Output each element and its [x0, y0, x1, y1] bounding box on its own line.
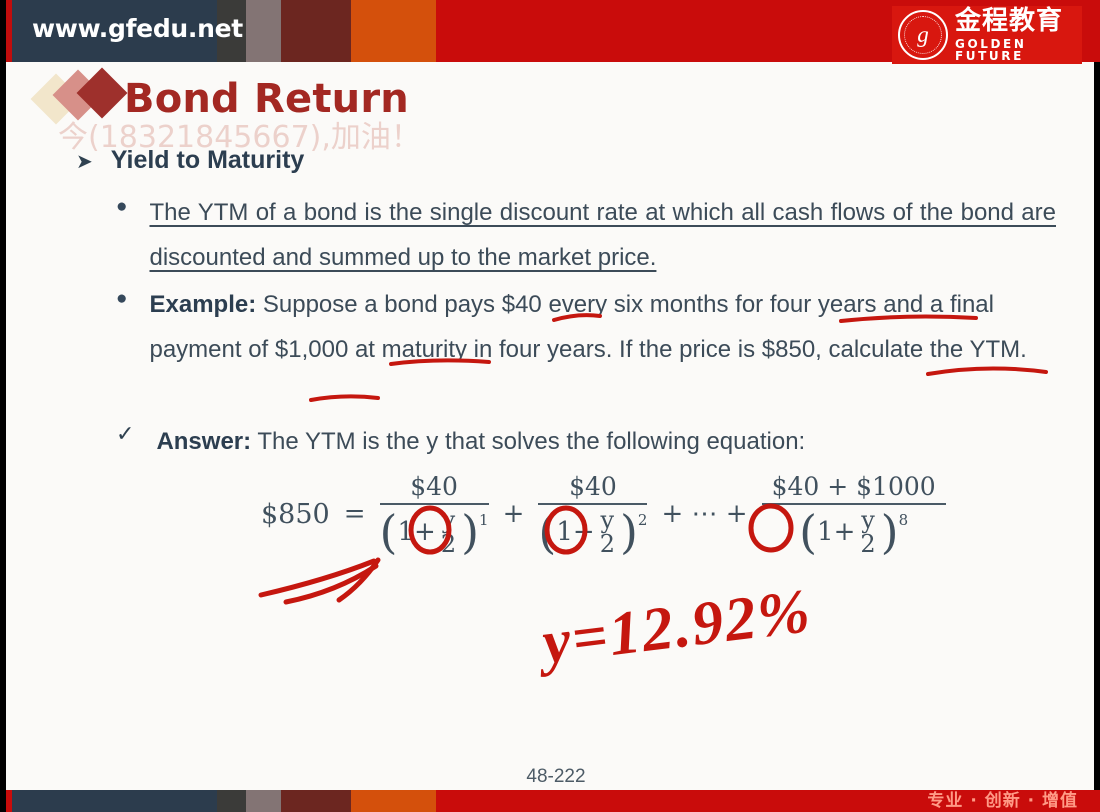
term1-y: y — [439, 508, 459, 532]
term1-one: 1 — [397, 517, 414, 547]
term3-paren-open: ( — [799, 514, 817, 551]
term3-two: 2 — [857, 532, 878, 556]
site-url: www.gfedu.net — [32, 14, 243, 43]
term1-y-over-2: y 2 — [438, 508, 459, 556]
footer-tagline: 专业 · 创新 · 增值 — [927, 786, 1078, 811]
term1-numerator: $40 — [400, 472, 468, 503]
arrow-bullet-icon: ➤ — [76, 149, 93, 174]
round-bullet-icon: ● — [116, 190, 127, 218]
equation-term-2: $40 ( 1 + y 2 ) 2 — [538, 472, 647, 556]
term2-exponent: 2 — [638, 511, 648, 529]
seal-icon: g — [898, 10, 948, 60]
answer-row: ✓ Answer: The YTM is the y that solves t… — [116, 419, 1056, 464]
answer-text: The YTM is the y that solves the followi… — [257, 428, 805, 455]
seal-monogram: g — [900, 12, 946, 58]
equation-term-3: $40 + $1000 ( 1 + y 2 ) 8 — [762, 472, 946, 556]
term2-one: 1 — [556, 517, 573, 547]
equation-equals: = — [340, 499, 370, 529]
term3-plus: + — [834, 517, 856, 547]
example-row: ● Example: Suppose a bond pays $40 every… — [116, 282, 1056, 372]
term2-y-over-2: y 2 — [597, 508, 618, 556]
footer-band-dark — [217, 790, 246, 812]
term3-y: y — [858, 508, 878, 532]
term2-two: 2 — [597, 532, 618, 556]
example-label: Example: — [149, 291, 256, 318]
handwritten-answer: y=12.92% — [539, 576, 816, 679]
term3-y-over-2: y 2 — [857, 508, 878, 556]
footer-band-maroon — [281, 790, 351, 812]
term2-y: y — [598, 508, 618, 532]
example-text: Suppose a bond pays $40 every six months… — [149, 291, 1026, 363]
ytm-equation: $850 = $40 ( 1 + y 2 ) 1 + — [261, 472, 946, 556]
brand-name-en: GOLDEN FUTURE — [955, 38, 1076, 62]
term3-paren-close: ) — [881, 514, 899, 551]
section-heading: Yield to Maturity — [111, 146, 305, 175]
footer-band-navy — [12, 790, 217, 812]
slide-page: www.gfedu.net g 金程教育 GOLDEN FUTURE Bond … — [6, 0, 1094, 812]
equation-lhs: $850 — [261, 499, 330, 530]
term1-paren-close: ) — [461, 514, 479, 551]
banner-band-maroon — [281, 0, 351, 62]
brand-name-cn: 金程教育 — [955, 8, 1076, 34]
term2-paren-close: ) — [620, 514, 638, 551]
term1-two: 2 — [438, 532, 459, 556]
brand-logo: g 金程教育 GOLDEN FUTURE — [892, 6, 1082, 64]
banner-band-orange — [351, 0, 436, 62]
answer-label: Answer: — [156, 428, 251, 455]
equation-ellipsis: + ⋯ + — [657, 499, 751, 529]
term2-numerator: $40 — [559, 472, 627, 503]
banner-band-gray — [246, 0, 281, 62]
term3-one: 1 — [817, 517, 834, 547]
brand-text: 金程教育 GOLDEN FUTURE — [955, 8, 1076, 62]
definition-text: The YTM of a bond is the single discount… — [149, 199, 1056, 271]
equation-plus-1: + — [499, 499, 529, 529]
term3-exponent: 8 — [899, 511, 909, 529]
definition-row: ● The YTM of a bond is the single discou… — [116, 190, 1056, 280]
term1-paren-open: ( — [380, 514, 398, 551]
footer-band-gray — [246, 790, 281, 812]
footer-band-orange — [351, 790, 436, 812]
round-bullet-icon: ● — [116, 282, 127, 310]
equation-term-1: $40 ( 1 + y 2 ) 1 — [380, 472, 489, 556]
term3-numerator: $40 + $1000 — [762, 472, 946, 503]
term1-plus: + — [414, 517, 436, 547]
page-number: 48-222 — [6, 766, 1100, 788]
term2-paren-open: ( — [538, 514, 556, 551]
term1-exponent: 1 — [479, 511, 489, 529]
check-bullet-icon: ✓ — [116, 419, 134, 447]
slide-container: www.gfedu.net g 金程教育 GOLDEN FUTURE Bond … — [0, 0, 1100, 812]
term2-plus: + — [573, 517, 595, 547]
section-heading-row: ➤ Yield to Maturity — [76, 146, 1056, 175]
